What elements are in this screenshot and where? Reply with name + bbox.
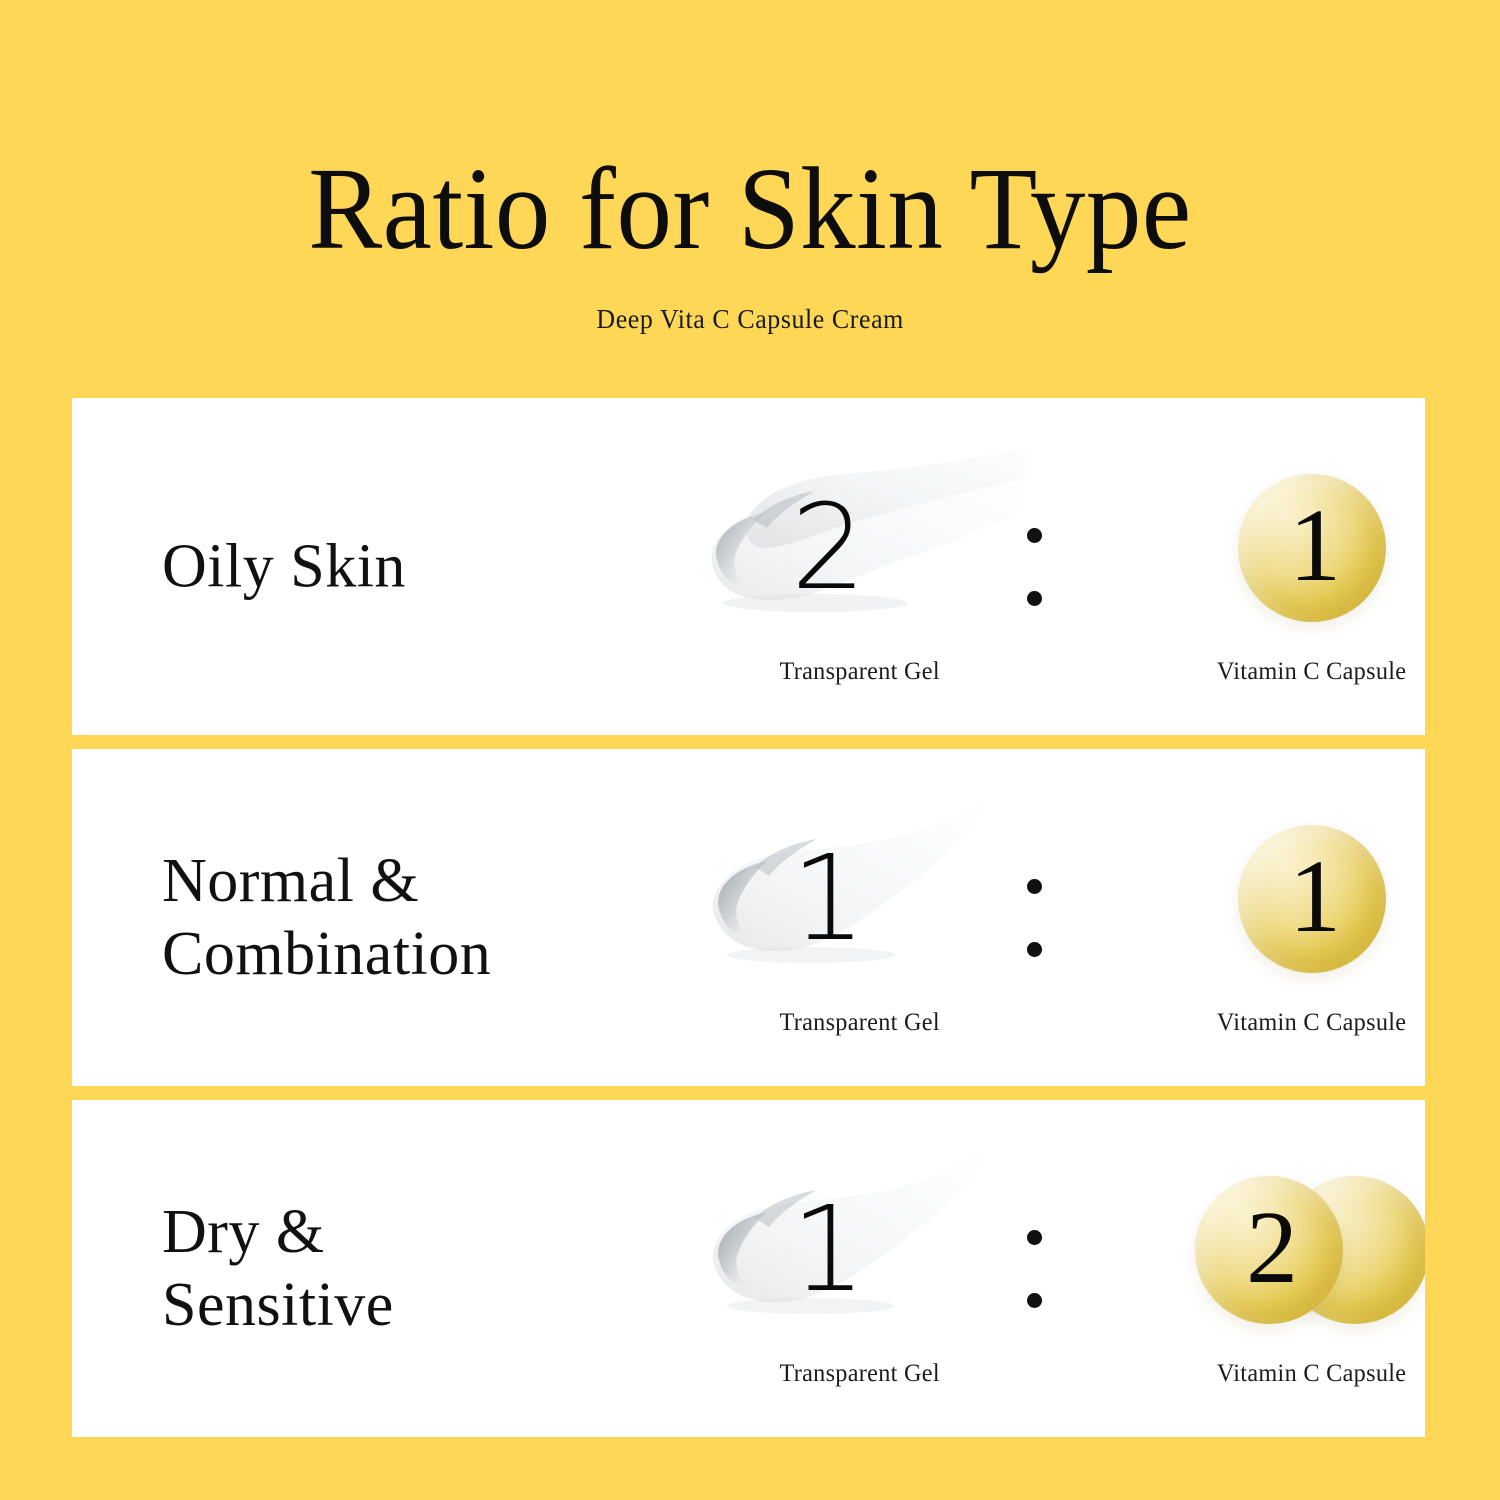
colon-dot-bottom [1027, 942, 1042, 957]
gel-visual: 2 [695, 448, 1025, 648]
transparent-gel-icon [695, 448, 1025, 648]
capsule-visual: 1 [1147, 448, 1425, 648]
colon-dot-top [1027, 879, 1042, 894]
colon-dot-top [1027, 528, 1042, 543]
capsule-caption: Vitamin C Capsule [1217, 1360, 1406, 1388]
capsule-column: 1 Vitamin C Capsule [1147, 799, 1425, 1037]
ratio-card-list: Oily Skin [72, 398, 1425, 1437]
skin-type-label: Oily Skin [162, 530, 406, 603]
page-title: Ratio for Skin Type [308, 0, 1191, 268]
skin-type-label: Normal & Combination [162, 844, 491, 990]
capsule-caption: Vitamin C Capsule [1217, 658, 1406, 686]
skin-type-label: Dry & Sensitive [162, 1195, 394, 1341]
ratio-separator [1014, 528, 1054, 606]
vitamin-c-capsule-icon [1238, 825, 1386, 973]
ratio-row-oily-skin: Oily Skin [72, 398, 1425, 735]
colon-dot-bottom [1027, 591, 1042, 606]
gel-caption: Transparent Gel [780, 658, 940, 686]
gel-caption: Transparent Gel [780, 1360, 940, 1388]
ratio-row-normal-combination: Normal & Combination [72, 749, 1425, 1086]
capsule-caption: Vitamin C Capsule [1217, 1009, 1406, 1037]
colon-dot-top [1027, 1230, 1042, 1245]
transparent-gel-icon [695, 799, 1025, 999]
capsule-visual: 1 [1147, 799, 1425, 999]
ratio-separator [1014, 879, 1054, 957]
vitamin-c-capsule-icon [1195, 1176, 1343, 1324]
page-header: Ratio for Skin Type Deep Vita C Capsule … [0, 0, 1500, 398]
capsule-column: 1 Vitamin C Capsule [1147, 448, 1425, 686]
gel-column: 1 Transparent Gel [695, 1150, 1025, 1388]
gel-caption: Transparent Gel [780, 1009, 940, 1037]
gel-column: 2 Transparent Gel [695, 448, 1025, 686]
transparent-gel-icon [695, 1150, 1025, 1350]
capsule-visual: 2 [1147, 1150, 1425, 1350]
gel-visual: 1 [695, 1150, 1025, 1350]
vitamin-c-capsule-icon [1238, 474, 1386, 622]
gel-visual: 1 [695, 799, 1025, 999]
capsule-column: 2 Vitamin C Capsule [1147, 1150, 1425, 1388]
page-subtitle: Deep Vita C Capsule Cream [596, 268, 904, 335]
colon-dot-bottom [1027, 1293, 1042, 1308]
ratio-row-dry-sensitive: Dry & Sensitive [72, 1100, 1425, 1437]
ratio-separator [1014, 1230, 1054, 1308]
gel-column: 1 Transparent Gel [695, 799, 1025, 1037]
